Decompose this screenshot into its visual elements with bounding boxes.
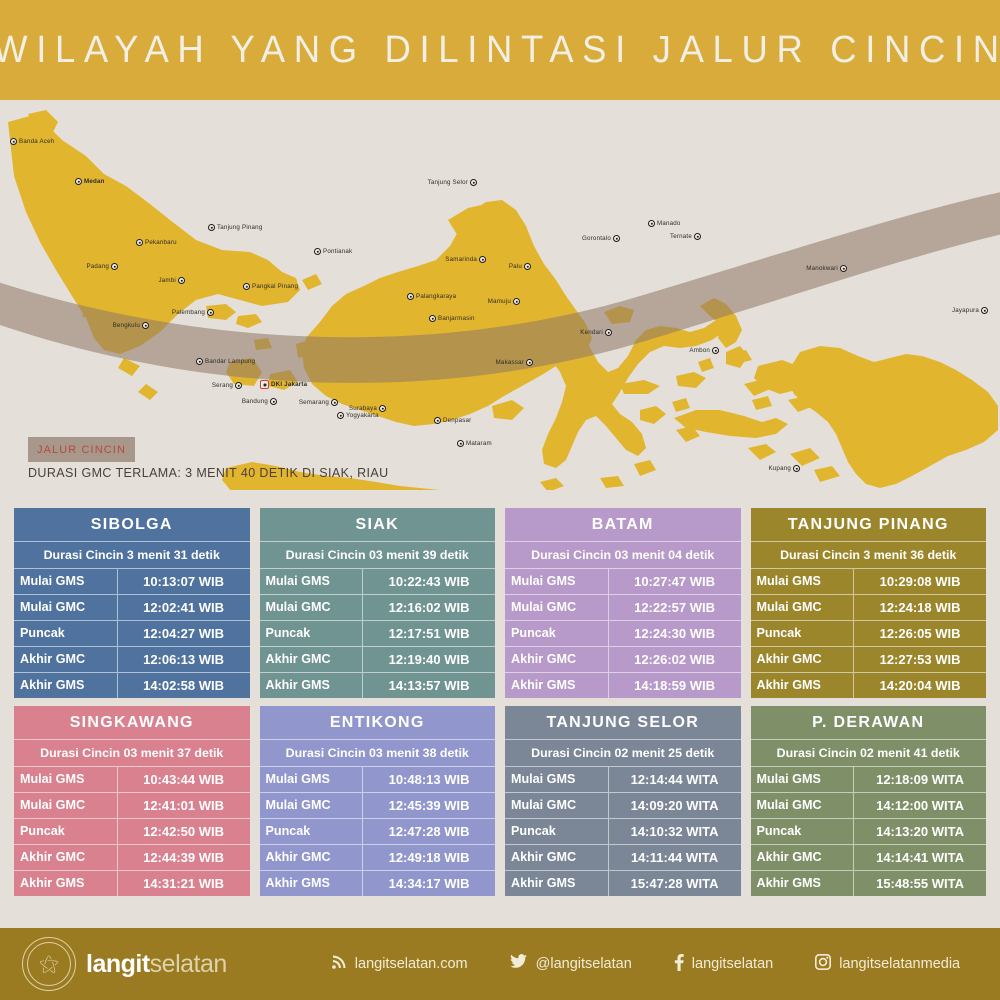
card-row: Mulai GMC12:24:18 WIB bbox=[751, 595, 987, 621]
card-title: SIAK bbox=[260, 508, 496, 542]
city-dot-icon bbox=[429, 315, 436, 322]
page-footer: ⚝ langitselatan langitselatan.com@langit… bbox=[0, 928, 1000, 1000]
card-title: ENTIKONG bbox=[260, 706, 496, 740]
social-link-rss[interactable]: langitselatan.com bbox=[331, 954, 468, 974]
city-label: Kupang bbox=[768, 465, 791, 472]
map-city-marker: Mataram bbox=[457, 440, 492, 447]
legend-label: JALUR CINCIN bbox=[37, 444, 126, 456]
card-row: Puncak12:17:51 WIB bbox=[260, 621, 496, 647]
card-row-value: 12:24:30 WIB bbox=[609, 621, 741, 646]
langitselatan-seal-icon: ⚝ bbox=[22, 937, 76, 991]
card-title: SIBOLGA bbox=[14, 508, 250, 542]
map-city-marker: Tanjung Selor bbox=[428, 179, 477, 186]
city-timing-card: SIAKDurasi Cincin 03 menit 39 detikMulai… bbox=[260, 508, 496, 698]
card-row-label: Akhir GMS bbox=[260, 871, 364, 896]
card-row: Akhir GMS14:20:04 WIB bbox=[751, 673, 987, 698]
map-city-marker: Palu bbox=[509, 263, 531, 270]
card-row-label: Mulai GMC bbox=[14, 793, 118, 818]
card-row: Puncak14:10:32 WITA bbox=[505, 819, 741, 845]
city-label: Palangkaraya bbox=[416, 293, 456, 300]
card-row-label: Mulai GMC bbox=[505, 595, 609, 620]
city-dot-icon bbox=[331, 399, 338, 406]
card-row-value: 12:45:39 WIB bbox=[363, 793, 495, 818]
city-dot-icon bbox=[407, 293, 414, 300]
city-dot-icon bbox=[10, 138, 17, 145]
city-dot-icon bbox=[513, 298, 520, 305]
city-dot-icon bbox=[235, 382, 242, 389]
map-city-marker: Jambi bbox=[158, 277, 185, 284]
card-row-value: 12:24:18 WIB bbox=[854, 595, 986, 620]
card-row-label: Mulai GMC bbox=[505, 793, 609, 818]
city-label: Tanjung Selor bbox=[428, 179, 468, 186]
card-title: P. DERAWAN bbox=[751, 706, 987, 740]
brand-name-light: selatan bbox=[150, 950, 227, 978]
card-row-value: 12:49:18 WIB bbox=[363, 845, 495, 870]
card-row: Mulai GMS10:22:43 WIB bbox=[260, 569, 496, 595]
map-city-marker: Makassar bbox=[496, 359, 533, 366]
city-dot-icon bbox=[793, 465, 800, 472]
city-dot-icon bbox=[75, 178, 82, 185]
card-row-value: 10:29:08 WIB bbox=[854, 569, 986, 594]
city-dot-icon bbox=[840, 265, 847, 272]
city-label: Palembang bbox=[172, 309, 205, 316]
card-duration: Durasi Cincin 03 menit 04 detik bbox=[505, 542, 741, 569]
card-row-label: Akhir GMS bbox=[751, 871, 855, 896]
card-duration: Durasi Cincin 02 menit 25 detik bbox=[505, 740, 741, 767]
social-link-label: @langitselatan bbox=[536, 956, 632, 972]
card-title: BATAM bbox=[505, 508, 741, 542]
brand-name-bold: langit bbox=[86, 950, 150, 978]
city-dot-icon bbox=[379, 405, 386, 412]
card-row-value: 12:17:51 WIB bbox=[363, 621, 495, 646]
card-row-label: Akhir GMS bbox=[14, 673, 118, 698]
card-row-label: Akhir GMC bbox=[260, 845, 364, 870]
card-row-value: 10:22:43 WIB bbox=[363, 569, 495, 594]
card-row: Akhir GMS14:13:57 WIB bbox=[260, 673, 496, 698]
city-timing-card: ENTIKONGDurasi Cincin 03 menit 38 detikM… bbox=[260, 706, 496, 896]
city-dot-icon bbox=[196, 358, 203, 365]
city-timing-cards: SIBOLGADurasi Cincin 3 menit 31 detikMul… bbox=[14, 508, 986, 896]
city-timing-card: BATAMDurasi Cincin 03 menit 04 detikMula… bbox=[505, 508, 741, 698]
map-city-marker: Yogyakarta bbox=[337, 412, 379, 419]
city-dot-icon bbox=[981, 307, 988, 314]
city-label: Mamuju bbox=[488, 298, 511, 305]
city-label: Mataram bbox=[466, 440, 492, 447]
card-row-value: 15:48:55 WITA bbox=[854, 871, 986, 896]
card-row: Mulai GMS12:18:09 WITA bbox=[751, 767, 987, 793]
city-label: Jayapura bbox=[952, 307, 979, 314]
card-row-label: Akhir GMS bbox=[505, 871, 609, 896]
map-city-marker: Jayapura bbox=[952, 307, 988, 314]
card-row-value: 10:43:44 WIB bbox=[118, 767, 250, 792]
card-duration: Durasi Cincin 3 menit 36 detik bbox=[751, 542, 987, 569]
card-row-label: Puncak bbox=[14, 621, 118, 646]
card-row: Mulai GMC12:16:02 WIB bbox=[260, 595, 496, 621]
seal-glyph: ⚝ bbox=[39, 954, 58, 974]
card-row: Akhir GMC14:14:41 WITA bbox=[751, 845, 987, 871]
card-row-value: 10:27:47 WIB bbox=[609, 569, 741, 594]
card-row-value: 14:02:58 WIB bbox=[118, 673, 250, 698]
city-label: Pekanbaru bbox=[145, 239, 177, 246]
card-row-value: 14:09:20 WITA bbox=[609, 793, 741, 818]
map-city-marker: Tanjung Pinang bbox=[208, 224, 262, 231]
map-city-marker: Manokwari bbox=[806, 265, 847, 272]
map-city-marker: Ambon bbox=[689, 347, 719, 354]
card-row-label: Mulai GMS bbox=[751, 767, 855, 792]
card-row-label: Akhir GMC bbox=[260, 647, 364, 672]
card-row-value: 12:19:40 WIB bbox=[363, 647, 495, 672]
social-links: langitselatan.com@langitselatanlangitsel… bbox=[331, 954, 960, 975]
card-row: Akhir GMS15:48:55 WITA bbox=[751, 871, 987, 896]
map-city-marker: Bandung bbox=[242, 398, 277, 405]
card-row-value: 12:04:27 WIB bbox=[118, 621, 250, 646]
city-dot-icon bbox=[457, 440, 464, 447]
card-row-value: 12:26:05 WIB bbox=[854, 621, 986, 646]
city-label: Yogyakarta bbox=[346, 412, 379, 419]
city-label: DKI Jakarta bbox=[271, 381, 307, 388]
city-label: Ternate bbox=[670, 233, 692, 240]
card-row-value: 12:18:09 WITA bbox=[854, 767, 986, 792]
city-dot-icon bbox=[712, 347, 719, 354]
card-row: Mulai GMS12:14:44 WITA bbox=[505, 767, 741, 793]
instagram-icon bbox=[815, 954, 831, 974]
card-row-label: Akhir GMS bbox=[14, 871, 118, 896]
card-row-value: 12:44:39 WIB bbox=[118, 845, 250, 870]
map-city-marker: Banjarmasin bbox=[429, 315, 475, 322]
card-row-value: 12:22:57 WIB bbox=[609, 595, 741, 620]
card-row: Puncak14:13:20 WITA bbox=[751, 819, 987, 845]
card-row-label: Akhir GMC bbox=[14, 845, 118, 870]
city-label: Denpasar bbox=[443, 417, 471, 424]
card-row-value: 12:14:44 WITA bbox=[609, 767, 741, 792]
city-dot-icon bbox=[434, 417, 441, 424]
twitter-icon bbox=[510, 954, 528, 974]
brand-wordmark: langitselatan bbox=[86, 952, 227, 977]
card-row-value: 12:47:28 WIB bbox=[363, 819, 495, 844]
city-timing-card: SIBOLGADurasi Cincin 3 menit 31 detikMul… bbox=[14, 508, 250, 698]
card-row-label: Puncak bbox=[260, 819, 364, 844]
map-city-marker: Manado bbox=[648, 220, 681, 227]
card-row-value: 14:13:20 WITA bbox=[854, 819, 986, 844]
card-row-value: 15:47:28 WITA bbox=[609, 871, 741, 896]
map-city-marker: Bandar Lampung bbox=[196, 358, 255, 365]
card-row-label: Akhir GMC bbox=[751, 647, 855, 672]
card-row: Akhir GMC12:26:02 WIB bbox=[505, 647, 741, 673]
card-row: Mulai GMS10:29:08 WIB bbox=[751, 569, 987, 595]
city-label: Manokwari bbox=[806, 265, 838, 272]
city-label: Tanjung Pinang bbox=[217, 224, 262, 231]
brand-logo: ⚝ langitselatan bbox=[22, 937, 227, 991]
card-row: Akhir GMS14:02:58 WIB bbox=[14, 673, 250, 698]
card-row-label: Akhir GMS bbox=[751, 673, 855, 698]
city-dot-icon bbox=[178, 277, 185, 284]
city-dot-icon bbox=[111, 263, 118, 270]
city-label: Pangkal Pinang bbox=[252, 283, 298, 290]
city-label: Palu bbox=[509, 263, 522, 270]
card-row: Akhir GMS15:47:28 WITA bbox=[505, 871, 741, 896]
card-row-value: 14:12:00 WITA bbox=[854, 793, 986, 818]
map-city-marker: DKI Jakarta bbox=[260, 380, 307, 389]
city-label: Ambon bbox=[689, 347, 710, 354]
map-city-marker: Gorontalo bbox=[582, 235, 620, 242]
card-row-value: 12:16:02 WIB bbox=[363, 595, 495, 620]
rss-icon bbox=[331, 954, 347, 974]
card-row-label: Mulai GMC bbox=[14, 595, 118, 620]
map-city-marker: Kendari bbox=[580, 329, 612, 336]
city-dot-icon bbox=[314, 248, 321, 255]
card-row-label: Mulai GMS bbox=[260, 767, 364, 792]
map-city-marker: Pontianak bbox=[314, 248, 352, 255]
card-row-label: Mulai GMS bbox=[751, 569, 855, 594]
city-label: Bandung bbox=[242, 398, 268, 405]
city-label: Banda Aceh bbox=[19, 138, 54, 145]
card-row-label: Puncak bbox=[505, 819, 609, 844]
map-city-marker: Denpasar bbox=[434, 417, 471, 424]
card-row: Puncak12:26:05 WIB bbox=[751, 621, 987, 647]
card-row-value: 10:13:07 WIB bbox=[118, 569, 250, 594]
city-dot-icon bbox=[479, 256, 486, 263]
city-timing-card: TANJUNG SELORDurasi Cincin 02 menit 25 d… bbox=[505, 706, 741, 896]
card-row: Puncak12:42:50 WIB bbox=[14, 819, 250, 845]
card-row-label: Puncak bbox=[14, 819, 118, 844]
city-dot-icon bbox=[613, 235, 620, 242]
card-row: Mulai GMS10:48:13 WIB bbox=[260, 767, 496, 793]
card-row-value: 12:06:13 WIB bbox=[118, 647, 250, 672]
map-city-marker: Mamuju bbox=[488, 298, 520, 305]
city-dot-icon bbox=[136, 239, 143, 246]
map-city-marker: Pangkal Pinang bbox=[243, 283, 298, 290]
card-duration: Durasi Cincin 3 menit 31 detik bbox=[14, 542, 250, 569]
card-row: Mulai GMC14:12:00 WITA bbox=[751, 793, 987, 819]
city-label: Banjarmasin bbox=[438, 315, 475, 322]
card-row-label: Mulai GMS bbox=[505, 767, 609, 792]
card-row-label: Puncak bbox=[260, 621, 364, 646]
city-label: Surabaya bbox=[349, 405, 377, 412]
card-row: Akhir GMC12:44:39 WIB bbox=[14, 845, 250, 871]
city-dot-icon bbox=[337, 412, 344, 419]
city-label: Serang bbox=[212, 382, 233, 389]
card-row-label: Mulai GMC bbox=[751, 595, 855, 620]
social-link-instagram[interactable]: langitselatanmedia bbox=[815, 954, 960, 974]
city-label: Semarang bbox=[299, 399, 329, 406]
city-dot-icon bbox=[648, 220, 655, 227]
city-dot-icon bbox=[270, 398, 277, 405]
map-city-marker: Pekanbaru bbox=[136, 239, 177, 246]
indonesia-map bbox=[0, 100, 1000, 490]
card-duration: Durasi Cincin 03 menit 39 detik bbox=[260, 542, 496, 569]
card-row: Puncak12:47:28 WIB bbox=[260, 819, 496, 845]
card-row: Akhir GMC12:06:13 WIB bbox=[14, 647, 250, 673]
card-row: Mulai GMC14:09:20 WITA bbox=[505, 793, 741, 819]
city-label: Samarinda bbox=[445, 256, 477, 263]
card-row-value: 12:42:50 WIB bbox=[118, 819, 250, 844]
map-city-marker: Palangkaraya bbox=[407, 293, 456, 300]
card-row-value: 10:48:13 WIB bbox=[363, 767, 495, 792]
card-row-label: Mulai GMS bbox=[505, 569, 609, 594]
card-row: Mulai GMS10:27:47 WIB bbox=[505, 569, 741, 595]
card-row-label: Akhir GMC bbox=[14, 647, 118, 672]
card-row: Mulai GMC12:41:01 WIB bbox=[14, 793, 250, 819]
card-row-label: Mulai GMC bbox=[751, 793, 855, 818]
card-row-label: Puncak bbox=[505, 621, 609, 646]
city-label: Gorontalo bbox=[582, 235, 611, 242]
card-row-label: Mulai GMS bbox=[14, 767, 118, 792]
card-row-label: Akhir GMS bbox=[505, 673, 609, 698]
map-city-marker: Medan bbox=[75, 178, 105, 185]
card-row-label: Mulai GMC bbox=[260, 595, 364, 620]
city-label: Jambi bbox=[158, 277, 176, 284]
map-city-marker: Banda Aceh bbox=[10, 138, 54, 145]
map-city-marker: Semarang bbox=[299, 399, 338, 406]
card-row-value: 14:11:44 WITA bbox=[609, 845, 741, 870]
card-row-value: 14:10:32 WITA bbox=[609, 819, 741, 844]
card-row-value: 12:41:01 WIB bbox=[118, 793, 250, 818]
city-label: Bengkulu bbox=[113, 322, 140, 329]
card-row: Akhir GMC12:27:53 WIB bbox=[751, 647, 987, 673]
social-link-facebook[interactable]: langitselatan bbox=[674, 954, 773, 975]
card-row: Mulai GMS10:43:44 WIB bbox=[14, 767, 250, 793]
card-title: TANJUNG SELOR bbox=[505, 706, 741, 740]
card-row-value: 14:20:04 WIB bbox=[854, 673, 986, 698]
map-city-marker: Padang bbox=[86, 263, 118, 270]
city-timing-card: TANJUNG PINANGDurasi Cincin 3 menit 36 d… bbox=[751, 508, 987, 698]
card-title: SINGKAWANG bbox=[14, 706, 250, 740]
card-row-label: Akhir GMS bbox=[260, 673, 364, 698]
duration-note: DURASI GMC TERLAMA: 3 MENIT 40 DETIK DI … bbox=[28, 466, 389, 480]
card-row: Akhir GMC14:11:44 WITA bbox=[505, 845, 741, 871]
page-title: WILAYAH YANG DILINTASI JALUR CINCIN bbox=[0, 29, 1000, 72]
card-row: Akhir GMS14:34:17 WIB bbox=[260, 871, 496, 896]
card-row-label: Puncak bbox=[751, 621, 855, 646]
city-dot-icon bbox=[243, 283, 250, 290]
card-row: Mulai GMC12:45:39 WIB bbox=[260, 793, 496, 819]
map-area: Banda AcehMedanPekanbaruPadangJambiBengk… bbox=[0, 100, 1000, 490]
card-row-value: 14:18:59 WIB bbox=[609, 673, 741, 698]
page-header: WILAYAH YANG DILINTASI JALUR CINCIN bbox=[0, 0, 1000, 100]
card-row-label: Mulai GMS bbox=[14, 569, 118, 594]
card-row-label: Akhir GMC bbox=[751, 845, 855, 870]
card-row: Mulai GMC12:22:57 WIB bbox=[505, 595, 741, 621]
city-label: Kendari bbox=[580, 329, 603, 336]
card-row: Akhir GMC12:19:40 WIB bbox=[260, 647, 496, 673]
map-city-marker: Serang bbox=[212, 382, 242, 389]
card-row-value: 12:26:02 WIB bbox=[609, 647, 741, 672]
social-link-label: langitselatan.com bbox=[355, 956, 468, 972]
card-duration: Durasi Cincin 03 menit 37 detik bbox=[14, 740, 250, 767]
map-city-marker: Palembang bbox=[172, 309, 214, 316]
map-city-marker: Ternate bbox=[670, 233, 701, 240]
city-dot-icon bbox=[142, 322, 149, 329]
city-label: Bandar Lampung bbox=[205, 358, 255, 365]
card-row-label: Akhir GMC bbox=[505, 647, 609, 672]
map-city-marker: Surabaya bbox=[349, 405, 386, 412]
city-timing-card: SINGKAWANGDurasi Cincin 03 menit 37 deti… bbox=[14, 706, 250, 896]
city-label: Padang bbox=[86, 263, 109, 270]
card-row-label: Puncak bbox=[751, 819, 855, 844]
card-row-label: Akhir GMC bbox=[505, 845, 609, 870]
card-row: Akhir GMS14:18:59 WIB bbox=[505, 673, 741, 698]
card-duration: Durasi Cincin 03 menit 38 detik bbox=[260, 740, 496, 767]
city-label: Manado bbox=[657, 220, 681, 227]
city-label: Pontianak bbox=[323, 248, 352, 255]
card-row: Akhir GMS14:31:21 WIB bbox=[14, 871, 250, 896]
city-dot-icon bbox=[524, 263, 531, 270]
facebook-icon bbox=[674, 954, 684, 975]
social-link-label: langitselatan bbox=[692, 956, 773, 972]
card-row: Puncak12:04:27 WIB bbox=[14, 621, 250, 647]
card-row-value: 14:14:41 WITA bbox=[854, 845, 986, 870]
card-row-value: 14:31:21 WIB bbox=[118, 871, 250, 896]
card-row-value: 14:34:17 WIB bbox=[363, 871, 495, 896]
card-row-value: 12:27:53 WIB bbox=[854, 647, 986, 672]
map-city-marker: Kupang bbox=[768, 465, 800, 472]
card-row-value: 14:13:57 WIB bbox=[363, 673, 495, 698]
card-row: Puncak12:24:30 WIB bbox=[505, 621, 741, 647]
map-city-marker: Samarinda bbox=[445, 256, 486, 263]
city-dot-icon bbox=[605, 329, 612, 336]
card-duration: Durasi Cincin 02 menit 41 detik bbox=[751, 740, 987, 767]
city-timing-card: P. DERAWANDurasi Cincin 02 menit 41 deti… bbox=[751, 706, 987, 896]
card-row-value: 12:02:41 WIB bbox=[118, 595, 250, 620]
card-row: Akhir GMC12:49:18 WIB bbox=[260, 845, 496, 871]
city-dot-icon bbox=[260, 380, 269, 389]
city-dot-icon bbox=[208, 224, 215, 231]
card-row: Mulai GMC12:02:41 WIB bbox=[14, 595, 250, 621]
city-dot-icon bbox=[207, 309, 214, 316]
map-city-marker: Bengkulu bbox=[113, 322, 149, 329]
city-label: Makassar bbox=[496, 359, 524, 366]
card-row-label: Mulai GMS bbox=[260, 569, 364, 594]
card-row-label: Mulai GMC bbox=[260, 793, 364, 818]
city-dot-icon bbox=[694, 233, 701, 240]
social-link-label: langitselatanmedia bbox=[839, 956, 960, 972]
city-dot-icon bbox=[470, 179, 477, 186]
legend-badge-jalur-cincin: JALUR CINCIN bbox=[28, 437, 135, 462]
city-dot-icon bbox=[526, 359, 533, 366]
social-link-twitter[interactable]: @langitselatan bbox=[510, 954, 632, 974]
card-title: TANJUNG PINANG bbox=[751, 508, 987, 542]
city-label: Medan bbox=[84, 178, 105, 185]
card-row: Mulai GMS10:13:07 WIB bbox=[14, 569, 250, 595]
infographic-page: WILAYAH YANG DILINTASI JALUR CINCIN bbox=[0, 0, 1000, 1000]
